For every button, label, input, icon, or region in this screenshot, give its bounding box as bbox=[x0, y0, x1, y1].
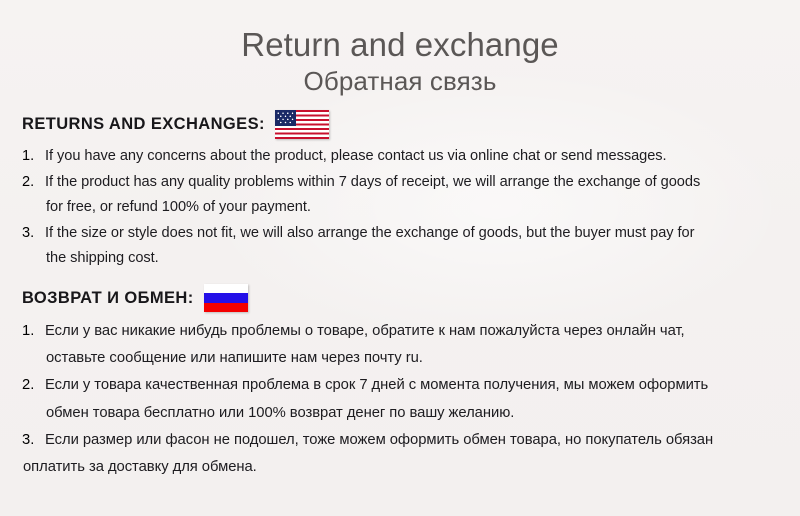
list-item-number: 1. bbox=[22, 318, 45, 345]
ru-flag-icon bbox=[204, 284, 248, 312]
list-item-number: 1. bbox=[22, 144, 45, 170]
list-item-line: оставьте сообщение или напишите нам чере… bbox=[45, 345, 778, 372]
page-title: Return and exchange Обратная связь bbox=[0, 26, 800, 97]
ru-flag-band-red bbox=[204, 303, 248, 312]
section-heading-label-english: RETURNS AND EXCHANGES: bbox=[22, 115, 265, 134]
section-heading-label-russian: ВОЗВРАТ И ОБМЕН: bbox=[22, 289, 194, 308]
list-item-line: If the product has any quality problems … bbox=[45, 170, 778, 196]
list-item-body: If you have any concerns about the produ… bbox=[45, 144, 778, 170]
ru-flag-band-white bbox=[204, 284, 248, 293]
list-item: 1. If you have any concerns about the pr… bbox=[22, 144, 778, 170]
list-item-line: обмен товара бесплатно или 100% возврат … bbox=[45, 400, 778, 427]
list-item-body: If the size or style does not fit, we wi… bbox=[45, 221, 778, 272]
list-item: 3. Если размер или фасон не подошел, тож… bbox=[22, 427, 778, 481]
list-item-body: Если размер или фасон не подошел, тоже м… bbox=[45, 427, 778, 481]
list-item: 1. Если у вас никакие нибудь проблемы о … bbox=[22, 318, 778, 372]
list-item: 2. If the product has any quality proble… bbox=[22, 170, 778, 221]
list-item-line: Если у вас никакие нибудь проблемы о тов… bbox=[45, 318, 778, 345]
page-title-english: Return and exchange bbox=[0, 26, 800, 64]
list-item-line: Если размер или фасон не подошел, тоже м… bbox=[45, 427, 778, 454]
ru-flag-band-blue bbox=[204, 293, 248, 302]
us-flag-canton bbox=[275, 110, 297, 126]
list-item-line: If the size or style does not fit, we wi… bbox=[45, 221, 778, 247]
list-item: 2. Если у товара качественная проблема в… bbox=[22, 372, 778, 426]
list-item-line: Если у товара качественная проблема в ср… bbox=[45, 372, 778, 399]
list-item-line: the shipping cost. bbox=[45, 246, 778, 272]
list-item-body: If the product has any quality problems … bbox=[45, 170, 778, 221]
list-item-body: Если у товара качественная проблема в ср… bbox=[45, 372, 778, 426]
returns-list-russian: 1. Если у вас никакие нибудь проблемы о … bbox=[22, 318, 778, 481]
list-item: 3. If the size or style does not fit, we… bbox=[22, 221, 778, 272]
list-item-number: 2. bbox=[22, 372, 45, 399]
page-title-russian: Обратная связь bbox=[0, 65, 800, 97]
list-item-number: 3. bbox=[22, 427, 45, 454]
section-heading-returns-and-exchanges: RETURNS AND EXCHANGES: bbox=[22, 110, 329, 139]
section-heading-vozvrat-i-obmen: ВОЗВРАТ И ОБМЕН: bbox=[22, 284, 248, 312]
list-item-number: 2. bbox=[22, 170, 45, 196]
list-item-line: If you have any concerns about the produ… bbox=[45, 144, 778, 170]
return-and-exchange-page: Return and exchange Обратная связь RETUR… bbox=[0, 0, 800, 516]
list-item-number: 3. bbox=[22, 221, 45, 247]
returns-list-english: 1. If you have any concerns about the pr… bbox=[22, 144, 778, 272]
list-item-body: Если у вас никакие нибудь проблемы о тов… bbox=[45, 318, 778, 372]
list-item-line: for free, or refund 100% of your payment… bbox=[45, 195, 778, 221]
us-flag-icon bbox=[275, 110, 329, 139]
list-item-line: оплатить за доставку для обмена. bbox=[23, 454, 778, 481]
